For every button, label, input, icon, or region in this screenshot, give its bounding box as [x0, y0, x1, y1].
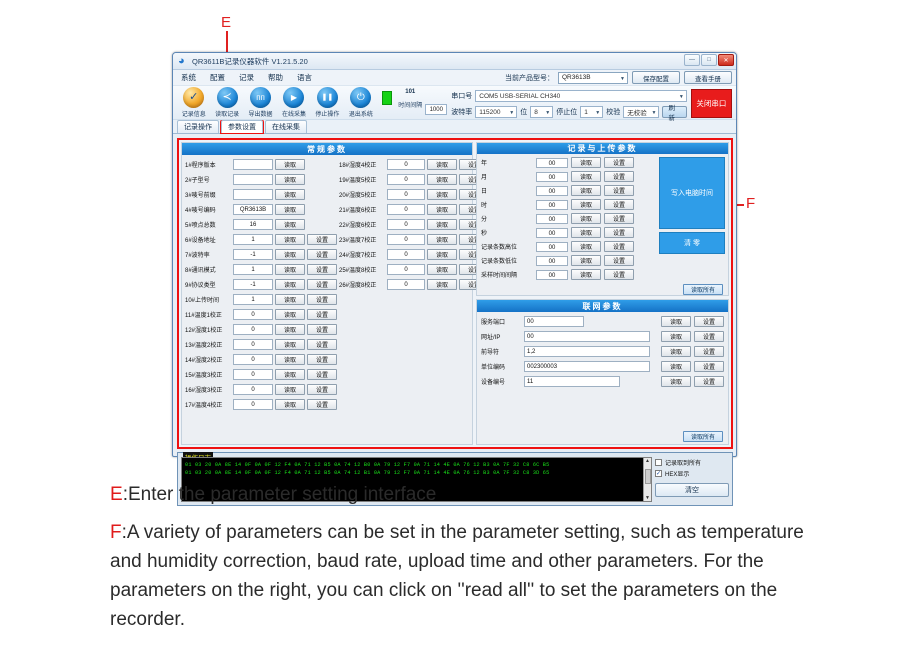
parameter-input[interactable]: 0 [387, 264, 425, 275]
toolbar-label-read-record: 读取记录 [215, 109, 239, 118]
general-panel-title: 常规参数 [182, 143, 472, 155]
parameter-row: 9#协议类型-1读取设置 [185, 277, 337, 291]
record-label: 月 [481, 172, 533, 181]
parameter-label: 8#通讯模式 [185, 265, 231, 274]
menu-item-record[interactable]: 记录 [239, 72, 254, 83]
parameter-set-button[interactable]: 设置 [307, 369, 337, 380]
checkbox-row-hex[interactable]: HEX显示 [655, 469, 729, 478]
record-set-button[interactable]: 设置 [604, 171, 634, 182]
parameter-input[interactable]: 0 [387, 279, 425, 290]
parameter-input[interactable]: 1 [233, 294, 273, 305]
network-set-button[interactable]: 设置 [694, 346, 724, 357]
record-input[interactable]: 00 [536, 228, 568, 238]
parameter-read-button[interactable]: 读取 [275, 354, 305, 365]
parameter-set-button[interactable]: 设置 [307, 294, 337, 305]
network-label: 前导符 [481, 347, 521, 356]
parameter-label: 12#湿度1校正 [185, 325, 231, 334]
hex-display-label: HEX显示 [665, 469, 689, 478]
parameter-row: 25#温度8校正0读取设置 [339, 262, 489, 276]
parameter-label: 2#子型号 [185, 175, 231, 184]
parameter-input[interactable] [233, 174, 273, 185]
clear-zero-button[interactable]: 清 零 [659, 232, 725, 254]
tab-online-collect[interactable]: 在线采集 [265, 120, 307, 133]
hex-display-checkbox[interactable] [655, 470, 662, 477]
caption-e: E:Enter the parameter setting interface [110, 480, 810, 509]
parameter-row: 21#温度6校正0读取设置 [339, 202, 489, 216]
serial-params-row: 波特率 115200 ▼ 位 8 ▼ 停止位 1 ▼ 校验 无校验 [451, 105, 687, 119]
record-read-button[interactable]: 读取 [571, 269, 601, 280]
parameter-read-button[interactable]: 读取 [275, 174, 305, 185]
parameter-label: 17#温度4校正 [185, 400, 231, 409]
caption-f: F:A variety of parameters can be set in … [110, 518, 810, 634]
network-read-button[interactable]: 读取 [661, 346, 691, 357]
record-label: 时 [481, 200, 533, 209]
parameter-input[interactable]: 0 [233, 339, 273, 350]
parameter-label: 14#湿度2校正 [185, 355, 231, 364]
parameter-label: 18#湿度4校正 [339, 160, 385, 169]
parameter-read-button[interactable]: 读取 [275, 294, 305, 305]
toolbar-button-export-data[interactable]: ᴨᴨ 导出数据 [244, 87, 277, 118]
record-row: 采样时间间隔00读取设置 [481, 268, 656, 281]
parameter-read-button[interactable]: 读取 [275, 264, 305, 275]
log-line: 01 03 20 0A 8E 14 0F 0A 0F 12 F4 0A 71 1… [182, 461, 651, 469]
record-input[interactable]: 00 [536, 158, 568, 168]
tab-parameter-setting[interactable]: 参数设置 [221, 120, 263, 133]
record-set-button[interactable]: 设置 [604, 269, 634, 280]
parameter-label: 5#喷点总数 [185, 220, 231, 229]
parameter-read-button[interactable]: 读取 [275, 279, 305, 290]
toolbar-label-export-data: 导出数据 [249, 109, 273, 118]
chevron-down-icon: ▼ [679, 94, 684, 100]
serial-port-label: 串口号 [451, 91, 472, 101]
callout-letter-f: F [746, 195, 755, 212]
parameter-input[interactable] [233, 159, 273, 170]
record-row: 年00读取设置 [481, 156, 656, 169]
parameter-row: 24#湿度7校正0读取设置 [339, 247, 489, 261]
product-model-label: 当前产品型号： [505, 73, 554, 83]
tab-strip: 记录操作 参数设置 在线采集 [173, 120, 736, 134]
menu-item-system[interactable]: 系统 [181, 72, 196, 83]
parameter-read-button[interactable]: 读取 [275, 339, 305, 350]
record-label: 日 [481, 186, 533, 195]
record-row: 秒00读取设置 [481, 226, 656, 239]
parameter-row: 8#通讯模式1读取设置 [185, 262, 337, 276]
parameter-label: 13#温度2校正 [185, 340, 231, 349]
product-model-value: QR3613B [562, 74, 591, 81]
parameter-row: 26#湿度8校正0读取设置 [339, 277, 489, 291]
network-set-button[interactable]: 设置 [694, 361, 724, 372]
maximize-button[interactable]: □ [701, 54, 717, 66]
parameter-read-button[interactable]: 读取 [275, 369, 305, 380]
parameter-row: 18#湿度4校正0读取设置 [339, 157, 489, 171]
parameter-read-button[interactable]: 读取 [427, 159, 457, 170]
parameter-read-button[interactable]: 读取 [427, 189, 457, 200]
play-icon: ▶ [283, 87, 304, 108]
record-label: 记录条数高位 [481, 242, 533, 251]
interval-label: 时间间隔 [398, 100, 422, 109]
baud-select[interactable]: 115200 ▼ [475, 106, 517, 118]
toolbar-button-record-info[interactable]: ✓ 记录信息 [177, 87, 210, 118]
baud-value: 115200 [479, 109, 500, 116]
toolbar-label-stop: 停止操作 [315, 109, 339, 118]
record-read-button[interactable]: 读取 [571, 213, 601, 224]
parameter-input[interactable]: 0 [233, 369, 273, 380]
parameter-label: 26#湿度8校正 [339, 280, 385, 289]
toolbar-label-online-collect: 在线采集 [282, 109, 306, 118]
parameter-row: 16#湿度3校正0读取设置 [185, 382, 337, 396]
network-read-all-button[interactable]: 读取所有 [683, 431, 723, 442]
view-manual-button[interactable]: 查看手册 [684, 71, 732, 84]
network-read-button[interactable]: 读取 [661, 331, 691, 342]
pause-icon: ❚❚ [317, 87, 338, 108]
parameter-input[interactable]: 0 [233, 324, 273, 335]
right-panels-column: 记录与上传参数 年00读取设置月00读取设置日00读取设置时00读取设置分00读… [476, 142, 729, 445]
record-set-button[interactable]: 设置 [604, 227, 634, 238]
record-read-button[interactable]: 读取 [571, 199, 601, 210]
parameter-row: 20#湿度5校正0读取设置 [339, 187, 489, 201]
serial-settings-area: 串口号 COM5 USB-SERIAL CH340 ▼ 波特率 115200 ▼… [447, 87, 687, 119]
app-logo-icon: ◕ [178, 56, 188, 66]
record-input[interactable]: 00 [536, 172, 568, 182]
interval-value-group: 1000 [425, 104, 447, 115]
parameter-read-button[interactable]: 读取 [427, 279, 457, 290]
chevron-down-icon: ▼ [652, 110, 657, 116]
parameter-label: 21#温度6校正 [339, 205, 385, 214]
parameter-row: 7#波特率-1读取设置 [185, 247, 337, 261]
tab-record-operation[interactable]: 记录操作 [177, 120, 219, 133]
record-row: 月00读取设置 [481, 170, 656, 183]
parameter-set-button[interactable]: 设置 [307, 399, 337, 410]
parameter-row: 22#湿度6校正0读取设置 [339, 217, 489, 231]
refresh-button[interactable]: 刷新 [662, 106, 686, 118]
record-read-button[interactable]: 读取 [571, 255, 601, 266]
record-input[interactable]: 00 [536, 186, 568, 196]
parameter-label: 20#湿度5校正 [339, 190, 385, 199]
record-set-button[interactable]: 设置 [604, 157, 634, 168]
interval-count: 101 [405, 89, 415, 95]
general-column-right: 18#湿度4校正0读取设置19#温度5校正0读取设置20#湿度5校正0读取设置2… [339, 157, 489, 411]
network-label: 设备编号 [481, 377, 521, 386]
network-panel-title: 联网参数 [477, 300, 728, 312]
parameter-row: 15#温度3校正0读取设置 [185, 367, 337, 381]
parameter-input[interactable]: 0 [233, 354, 273, 365]
parameter-label: 6#设备地址 [185, 235, 231, 244]
record-input[interactable]: 00 [536, 270, 568, 280]
caption-e-text: :Enter the parameter setting interface [123, 484, 437, 505]
product-model-area: 当前产品型号： QR3613B ▼ 保存配置 查看手册 [505, 71, 732, 84]
parameter-label: 15#温度3校正 [185, 370, 231, 379]
record-read-all-button[interactable]: 读取所有 [683, 284, 723, 295]
parameter-set-button[interactable]: 设置 [307, 324, 337, 335]
parameter-set-button[interactable]: 设置 [307, 249, 337, 260]
parameter-row: 2#子型号读取设置 [185, 172, 337, 186]
serial-port-row: 串口号 COM5 USB-SERIAL CH340 ▼ [451, 89, 687, 103]
stopbits-value: 1 [584, 109, 588, 116]
minimize-button[interactable]: — [684, 54, 700, 66]
toolbar-button-read-record[interactable]: ≺ 读取记录 [210, 87, 243, 118]
stopbits-select[interactable]: 1 ▼ [580, 106, 603, 118]
parameter-row: 11#温度1校正0读取设置 [185, 307, 337, 321]
network-row: 设备编号11读取设置 [481, 375, 724, 388]
network-read-button[interactable]: 读取 [661, 361, 691, 372]
record-all-checkbox[interactable] [655, 459, 662, 466]
network-set-button[interactable]: 设置 [694, 376, 724, 387]
window-controls: — □ ✕ [684, 54, 734, 66]
parameter-row: 1#程序版本读取设置 [185, 157, 337, 171]
parameter-input[interactable]: 0 [387, 189, 425, 200]
databits-value: 8 [534, 109, 538, 116]
parameter-set-button[interactable]: 设置 [307, 384, 337, 395]
parameter-label: 4#唛号编码 [185, 205, 231, 214]
record-input[interactable]: 00 [536, 242, 568, 252]
write-pc-time-button[interactable]: 写入电脑时间 [659, 157, 725, 229]
record-upload-panel: 记录与上传参数 年00读取设置月00读取设置日00读取设置时00读取设置分00读… [476, 142, 729, 296]
record-row: 分00读取设置 [481, 212, 656, 225]
toolbar-button-online-collect[interactable]: ▶ 在线采集 [277, 87, 310, 118]
close-port-button[interactable]: 关闭串口 [691, 89, 732, 118]
chevron-down-icon: ▼ [595, 110, 600, 116]
parameter-input[interactable]: 1 [233, 234, 273, 245]
parameter-read-button[interactable]: 读取 [275, 384, 305, 395]
record-all-label: 记录取到所有 [665, 458, 701, 467]
network-read-button[interactable]: 读取 [661, 316, 691, 327]
record-set-button[interactable]: 设置 [604, 255, 634, 266]
parameter-label: 23#温度7校正 [339, 235, 385, 244]
close-button[interactable]: ✕ [718, 54, 734, 66]
parameter-label: 9#协议类型 [185, 280, 231, 289]
parameter-set-button[interactable]: 设置 [307, 339, 337, 350]
parameter-input[interactable]: 0 [233, 399, 273, 410]
network-row: 服务端口00读取设置 [481, 315, 724, 328]
parameter-input[interactable]: 0 [387, 219, 425, 230]
parameter-setting-region: 常规参数 1#程序版本读取设置2#子型号读取设置3#唛号前缀读取设置4#唛号编码… [177, 138, 733, 449]
record-row: 日00读取设置 [481, 184, 656, 197]
general-parameters-panel: 常规参数 1#程序版本读取设置2#子型号读取设置3#唛号前缀读取设置4#唛号编码… [181, 142, 473, 445]
menu-item-help[interactable]: 帮助 [268, 72, 283, 83]
caption-block: E:Enter the parameter setting interface … [110, 480, 810, 643]
parameter-read-button[interactable]: 读取 [427, 174, 457, 185]
record-set-button[interactable]: 设置 [604, 241, 634, 252]
interval-input[interactable]: 1000 [425, 104, 447, 115]
record-label: 记录条数低位 [481, 256, 533, 265]
application-window: ◕ QR3611B记录仪器软件 V1.21.5.20 — □ ✕ 系统 配置 记… [172, 52, 737, 457]
parameter-label: 11#温度1校正 [185, 310, 231, 319]
baud-label: 波特率 [451, 107, 472, 117]
parameter-label: 7#波特率 [185, 250, 231, 259]
parameter-row: 5#喷点总数16读取设置 [185, 217, 337, 231]
export-icon: ᴨᴨ [250, 87, 271, 108]
checkbox-row-record-all[interactable]: 记录取到所有 [655, 458, 729, 467]
menu-bar: 系统 配置 记录 帮助 语言 当前产品型号： QR3613B ▼ 保存配置 查看… [173, 70, 736, 86]
toolbar-label-exit: 退出系统 [349, 109, 373, 118]
network-read-button[interactable]: 读取 [661, 376, 691, 387]
network-row: 网址/IP00读取设置 [481, 330, 724, 343]
window-title: QR3611B记录仪器软件 V1.21.5.20 [192, 56, 308, 67]
parameter-input[interactable]: 0 [233, 309, 273, 320]
databits-label: 位 [520, 107, 527, 117]
parameter-row: 3#唛号前缀读取设置 [185, 187, 337, 201]
record-panel-title: 记录与上传参数 [477, 143, 728, 154]
network-input[interactable]: 002300003 [524, 361, 650, 372]
parameter-row: 10#上传时间1读取设置 [185, 292, 337, 306]
parameter-row: 23#温度7校正0读取设置 [339, 232, 489, 246]
parity-value: 无校验 [627, 107, 647, 117]
menu-item-config[interactable]: 配置 [210, 72, 225, 83]
parameter-label: 16#湿度3校正 [185, 385, 231, 394]
record-row: 记录条数高位00读取设置 [481, 240, 656, 253]
chevron-down-icon: ▼ [509, 110, 514, 116]
record-set-button[interactable]: 设置 [604, 199, 634, 210]
record-input[interactable]: 00 [536, 256, 568, 266]
record-set-button[interactable]: 设置 [604, 213, 634, 224]
save-config-button[interactable]: 保存配置 [632, 71, 680, 84]
parameter-row: 13#温度2校正0读取设置 [185, 337, 337, 351]
parameter-input[interactable]: 0 [387, 174, 425, 185]
parameter-read-button[interactable]: 读取 [275, 189, 305, 200]
parameter-row: 17#温度4校正0读取设置 [185, 397, 337, 411]
parameter-label: 3#唛号前缀 [185, 190, 231, 199]
record-label: 采样时间间隔 [481, 270, 533, 279]
record-label: 秒 [481, 228, 533, 237]
toolbar-button-stop[interactable]: ❚❚ 停止操作 [311, 87, 344, 118]
parameter-label: 1#程序版本 [185, 160, 231, 169]
parameter-read-button[interactable]: 读取 [427, 204, 457, 215]
log-line: 01 03 20 0A 8E 14 0F 0A 0F 12 F4 0A 71 1… [182, 469, 651, 477]
record-row: 时00读取设置 [481, 198, 656, 211]
menu-item-language[interactable]: 语言 [297, 72, 312, 83]
parameter-read-button[interactable]: 读取 [275, 234, 305, 245]
parameter-label: 24#湿度7校正 [339, 250, 385, 259]
parameter-input[interactable]: 0 [387, 234, 425, 245]
chevron-down-icon: ▼ [545, 110, 550, 116]
record-rows-container: 年00读取设置月00读取设置日00读取设置时00读取设置分00读取设置秒00读取… [481, 156, 656, 281]
network-row: 单位编码002300003读取设置 [481, 360, 724, 373]
parameter-input[interactable]: 1 [233, 264, 273, 275]
window-titlebar: ◕ QR3611B记录仪器软件 V1.21.5.20 — □ ✕ [173, 53, 736, 70]
network-set-button[interactable]: 设置 [694, 316, 724, 327]
parameter-set-button[interactable]: 设置 [307, 309, 337, 320]
parameter-input[interactable]: 0 [387, 249, 425, 260]
parameter-read-button[interactable]: 读取 [427, 249, 457, 260]
network-set-button[interactable]: 设置 [694, 331, 724, 342]
general-column-left: 1#程序版本读取设置2#子型号读取设置3#唛号前缀读取设置4#唛号编码QR361… [185, 157, 337, 411]
record-read-button[interactable]: 读取 [571, 171, 601, 182]
serial-port-value: COM5 USB-SERIAL CH340 [479, 93, 560, 100]
record-set-button[interactable]: 设置 [604, 185, 634, 196]
network-input[interactable]: 00 [524, 316, 584, 327]
status-green-square [382, 91, 393, 105]
parameter-input[interactable]: QR3613B [233, 204, 273, 215]
parameter-row: 14#湿度2校正0读取设置 [185, 352, 337, 366]
record-info-icon: ✓ [183, 87, 204, 108]
parameter-read-button[interactable]: 读取 [275, 249, 305, 260]
parameter-set-button[interactable]: 设置 [307, 234, 337, 245]
databits-select[interactable]: 8 ▼ [530, 106, 553, 118]
parameter-read-button[interactable]: 读取 [275, 219, 305, 230]
caption-f-text: :A variety of parameters can be set in t… [110, 522, 804, 630]
parameter-input[interactable]: 0 [387, 204, 425, 215]
parameter-row: 19#温度5校正0读取设置 [339, 172, 489, 186]
parameter-row: 6#设备地址1读取设置 [185, 232, 337, 246]
network-parameters-panel: 联网参数 服务端口00读取设置网址/IP00读取设置前导符1,2读取设置单位编码… [476, 299, 729, 445]
parameter-read-button[interactable]: 读取 [275, 204, 305, 215]
parameter-row: 4#唛号编码QR3613B读取设置 [185, 202, 337, 216]
network-label: 服务端口 [481, 317, 521, 326]
network-row: 前导符1,2读取设置 [481, 345, 724, 358]
parameter-label: 22#湿度6校正 [339, 220, 385, 229]
callout-letter-e: E [221, 14, 231, 31]
parameter-read-button[interactable]: 读取 [427, 234, 457, 245]
serial-port-select[interactable]: COM5 USB-SERIAL CH340 ▼ [475, 90, 687, 102]
parameter-read-button[interactable]: 读取 [275, 309, 305, 320]
record-input[interactable]: 00 [536, 214, 568, 224]
toolbar-button-exit[interactable]: ⏻ 退出系统 [344, 87, 377, 118]
parameter-label: 19#温度5校正 [339, 175, 385, 184]
record-label: 分 [481, 214, 533, 223]
parameter-label: 10#上传时间 [185, 295, 231, 304]
parameter-input[interactable]: 16 [233, 219, 273, 230]
interval-field-group: 101 时间间隔 [398, 89, 422, 109]
scroll-up-icon[interactable]: ▲ [645, 458, 650, 464]
record-read-button[interactable]: 读取 [571, 185, 601, 196]
parameter-input[interactable]: -1 [233, 279, 273, 290]
network-input[interactable]: 00 [524, 331, 650, 342]
caption-f-key: F [110, 522, 122, 543]
parameter-input[interactable] [233, 189, 273, 200]
record-read-button[interactable]: 读取 [571, 241, 601, 252]
parameter-set-button[interactable]: 设置 [307, 279, 337, 290]
record-row: 记录条数低位00读取设置 [481, 254, 656, 267]
stopbits-label: 停止位 [556, 107, 577, 117]
record-input[interactable]: 00 [536, 200, 568, 210]
record-label: 年 [481, 158, 533, 167]
network-label: 单位编码 [481, 362, 521, 371]
chevron-down-icon: ▼ [620, 76, 625, 82]
power-icon: ⏻ [350, 87, 371, 108]
parity-label: 校验 [606, 107, 620, 117]
record-action-buttons: 写入电脑时间 清 零 [659, 156, 725, 281]
record-read-button[interactable]: 读取 [571, 227, 601, 238]
parameter-read-button[interactable]: 读取 [427, 219, 457, 230]
parameter-set-button[interactable]: 设置 [307, 264, 337, 275]
parity-select[interactable]: 无校验 ▼ [623, 106, 659, 118]
parameter-row: 12#湿度1校正0读取设置 [185, 322, 337, 336]
parameter-input[interactable]: -1 [233, 249, 273, 260]
parameter-read-button[interactable]: 读取 [275, 159, 305, 170]
parameter-read-button[interactable]: 读取 [275, 399, 305, 410]
network-label: 网址/IP [481, 332, 521, 341]
network-rows-container: 服务端口00读取设置网址/IP00读取设置前导符1,2读取设置单位编码00230… [477, 312, 728, 391]
product-model-select[interactable]: QR3613B ▼ [558, 72, 628, 84]
parameter-set-button[interactable]: 设置 [307, 354, 337, 365]
share-icon: ≺ [217, 87, 238, 108]
parameter-label: 25#温度8校正 [339, 265, 385, 274]
parameter-input[interactable]: 0 [387, 159, 425, 170]
parameter-input[interactable]: 0 [233, 384, 273, 395]
parameter-read-button[interactable]: 读取 [427, 264, 457, 275]
caption-e-key: E [110, 484, 123, 505]
parameter-read-button[interactable]: 读取 [275, 324, 305, 335]
main-toolbar: ✓ 记录信息 ≺ 读取记录 ᴨᴨ 导出数据 ▶ 在线采集 ❚❚ 停止操作 ⏻ 退… [173, 86, 736, 120]
toolbar-label-record-info: 记录信息 [182, 109, 206, 118]
record-read-button[interactable]: 读取 [571, 157, 601, 168]
network-input[interactable]: 11 [524, 376, 620, 387]
network-input[interactable]: 1,2 [524, 346, 650, 357]
